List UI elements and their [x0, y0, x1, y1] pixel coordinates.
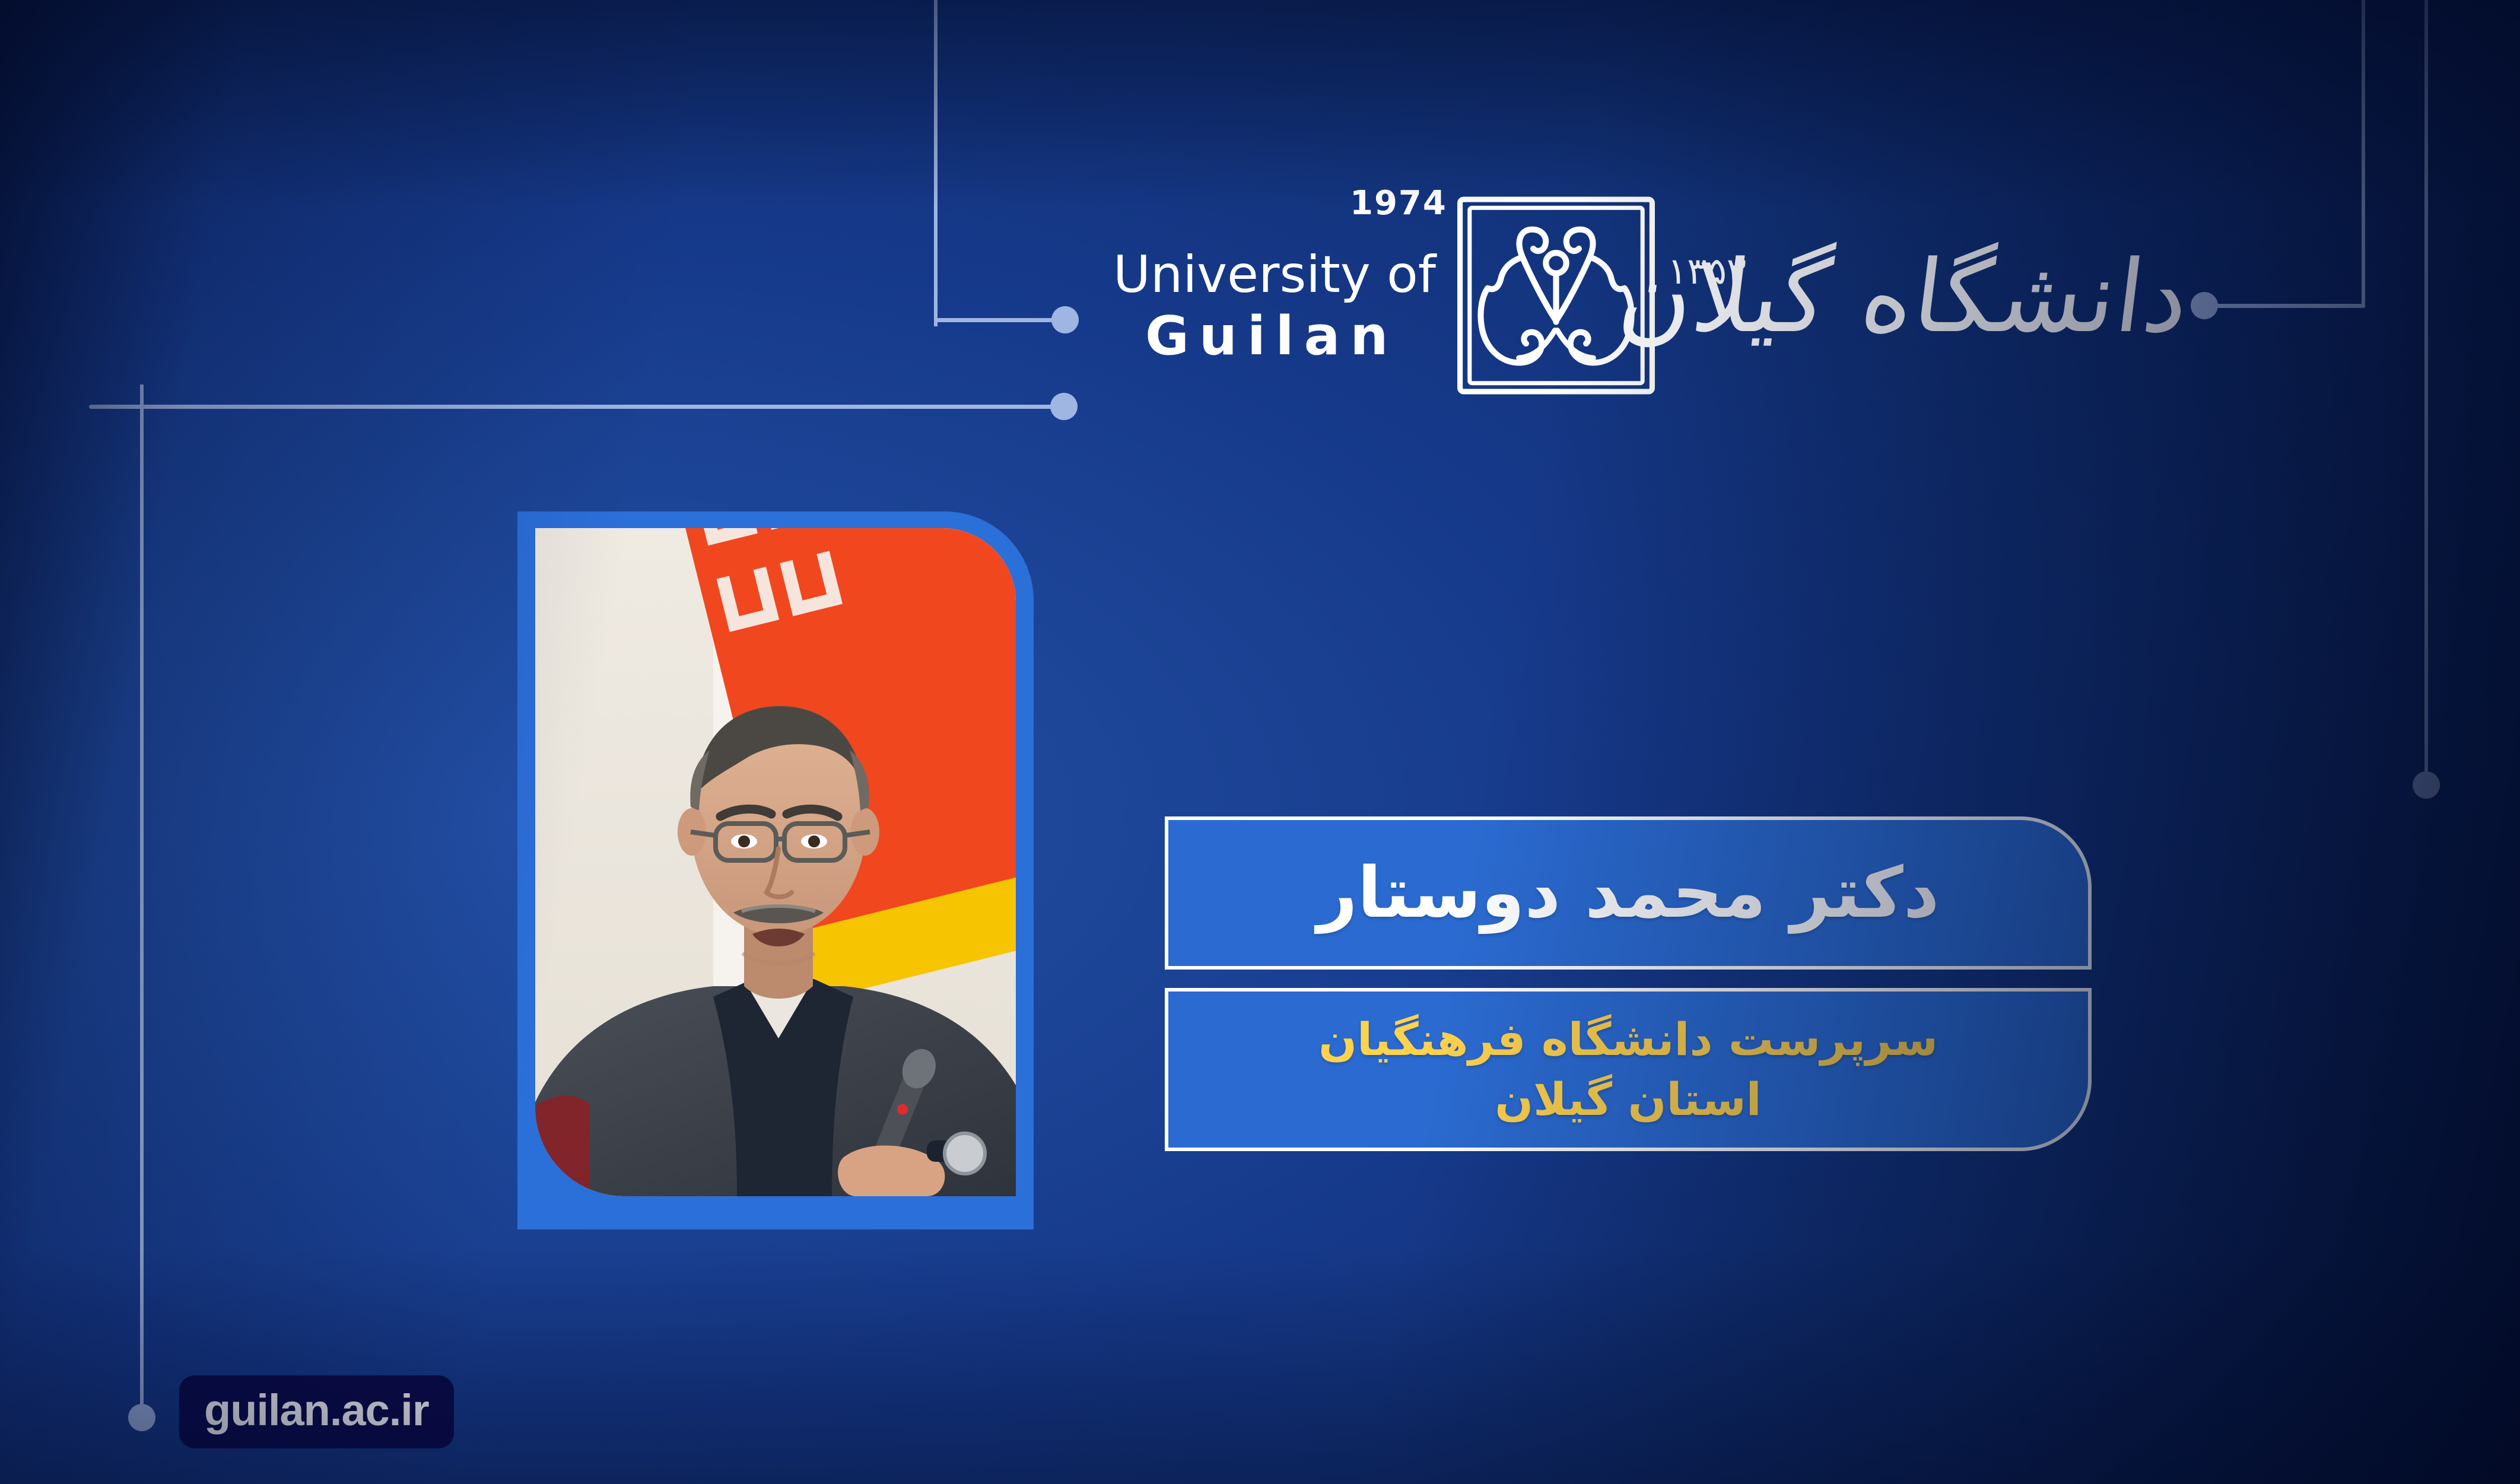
- logo-year-gregorian: 1974: [1350, 184, 1447, 223]
- person-role-text: سرپرست دانشگاه فرهنگیان استان گیلان: [1318, 1010, 1938, 1129]
- portrait-image: [535, 528, 1016, 1196]
- decor-line-top-left-vertical: [934, 0, 938, 326]
- decor-line-top-left-horizontal: [934, 318, 1062, 322]
- website-url-badge[interactable]: guilan.ac.ir: [179, 1375, 454, 1448]
- website-url-text: guilan.ac.ir: [204, 1385, 429, 1435]
- decor-dot-top-left: [1051, 306, 1079, 333]
- decor-line-mid-left-horizontal: [89, 405, 1062, 409]
- decor-dot-mid-left: [1050, 393, 1078, 420]
- logo-name-english-line1: University of: [1145, 249, 1436, 300]
- decor-line-top-right-horizontal: [2210, 304, 2365, 308]
- decor-line-right-vertical: [2424, 0, 2428, 783]
- decor-dot-right: [2413, 771, 2440, 799]
- person-role-banner: سرپرست دانشگاه فرهنگیان استان گیلان: [1165, 988, 2092, 1151]
- logo-name-persian: دانشگاه گیلان: [1620, 184, 2077, 409]
- logo-name-english-line2: Guilan: [1145, 310, 1436, 363]
- person-name-text: دکتر محمد دوستار: [1317, 854, 1940, 932]
- portrait-photo: [535, 528, 1016, 1196]
- person-role-line1: سرپرست دانشگاه فرهنگیان: [1318, 1010, 1938, 1069]
- logo-name-english: University of Guilan: [1145, 249, 1436, 363]
- decor-line-mid-left-vertical: [140, 384, 144, 1420]
- decor-dot-bottom-left: [128, 1404, 155, 1431]
- person-role-line2: استان گیلان: [1318, 1070, 1938, 1129]
- decor-line-top-right-vertical: [2362, 0, 2365, 307]
- decor-dot-top-right: [2191, 292, 2218, 319]
- announcement-banner: 1974 University of Guilan: [0, 0, 2520, 1484]
- person-name-banner: دکتر محمد دوستار: [1165, 816, 2092, 970]
- logo-name-persian-text: دانشگاه گیلان: [1614, 247, 2194, 347]
- portrait-frame: [517, 511, 1034, 1229]
- university-logo: 1974 University of Guilan: [1145, 178, 2077, 415]
